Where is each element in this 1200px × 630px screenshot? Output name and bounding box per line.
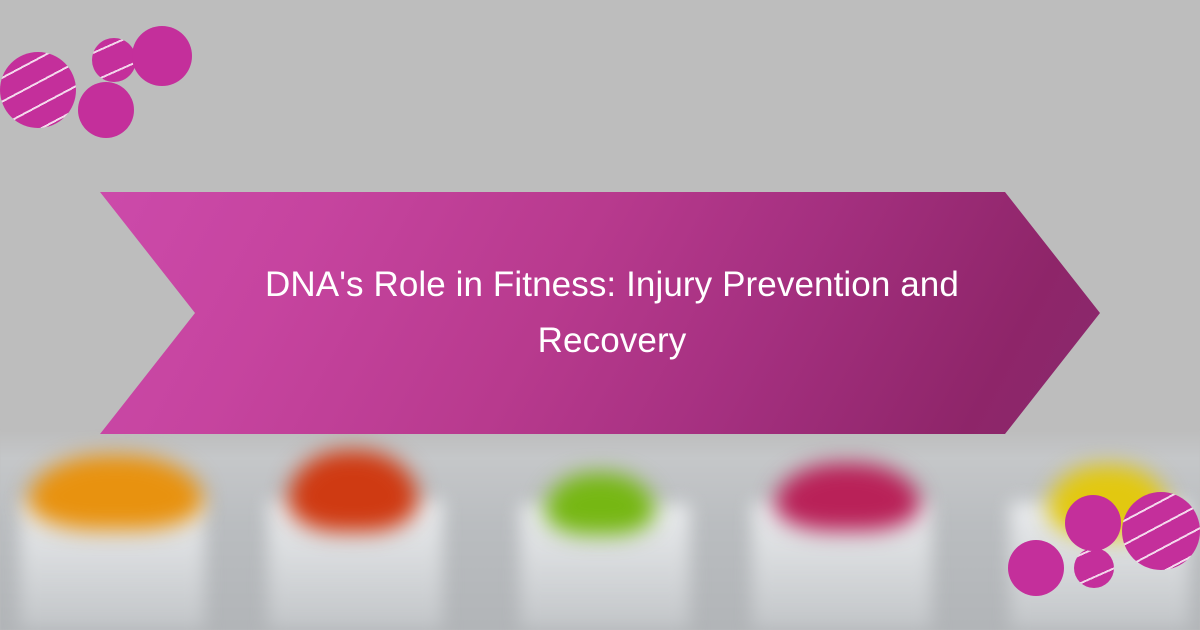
circle-large-solid	[132, 26, 192, 86]
food-magenta	[775, 463, 920, 531]
food-orange	[28, 455, 203, 530]
circle-medium-solid-2	[1008, 540, 1064, 596]
circle-large-striped-bottom	[1122, 492, 1200, 570]
social-card-canvas: DNA's Role in Fitness: Injury Prevention…	[0, 0, 1200, 630]
circle-small-striped	[92, 38, 136, 82]
circle-medium-solid	[78, 82, 134, 138]
circle-medium-solid-bottom	[1065, 495, 1121, 551]
page-title: DNA's Role in Fitness: Injury Prevention…	[223, 257, 977, 369]
circle-large-striped	[0, 52, 76, 128]
circle-small-striped-bottom	[1074, 548, 1114, 588]
headline-banner: DNA's Role in Fitness: Injury Prevention…	[100, 192, 1100, 434]
food-red	[288, 450, 418, 532]
food-green	[545, 473, 655, 535]
